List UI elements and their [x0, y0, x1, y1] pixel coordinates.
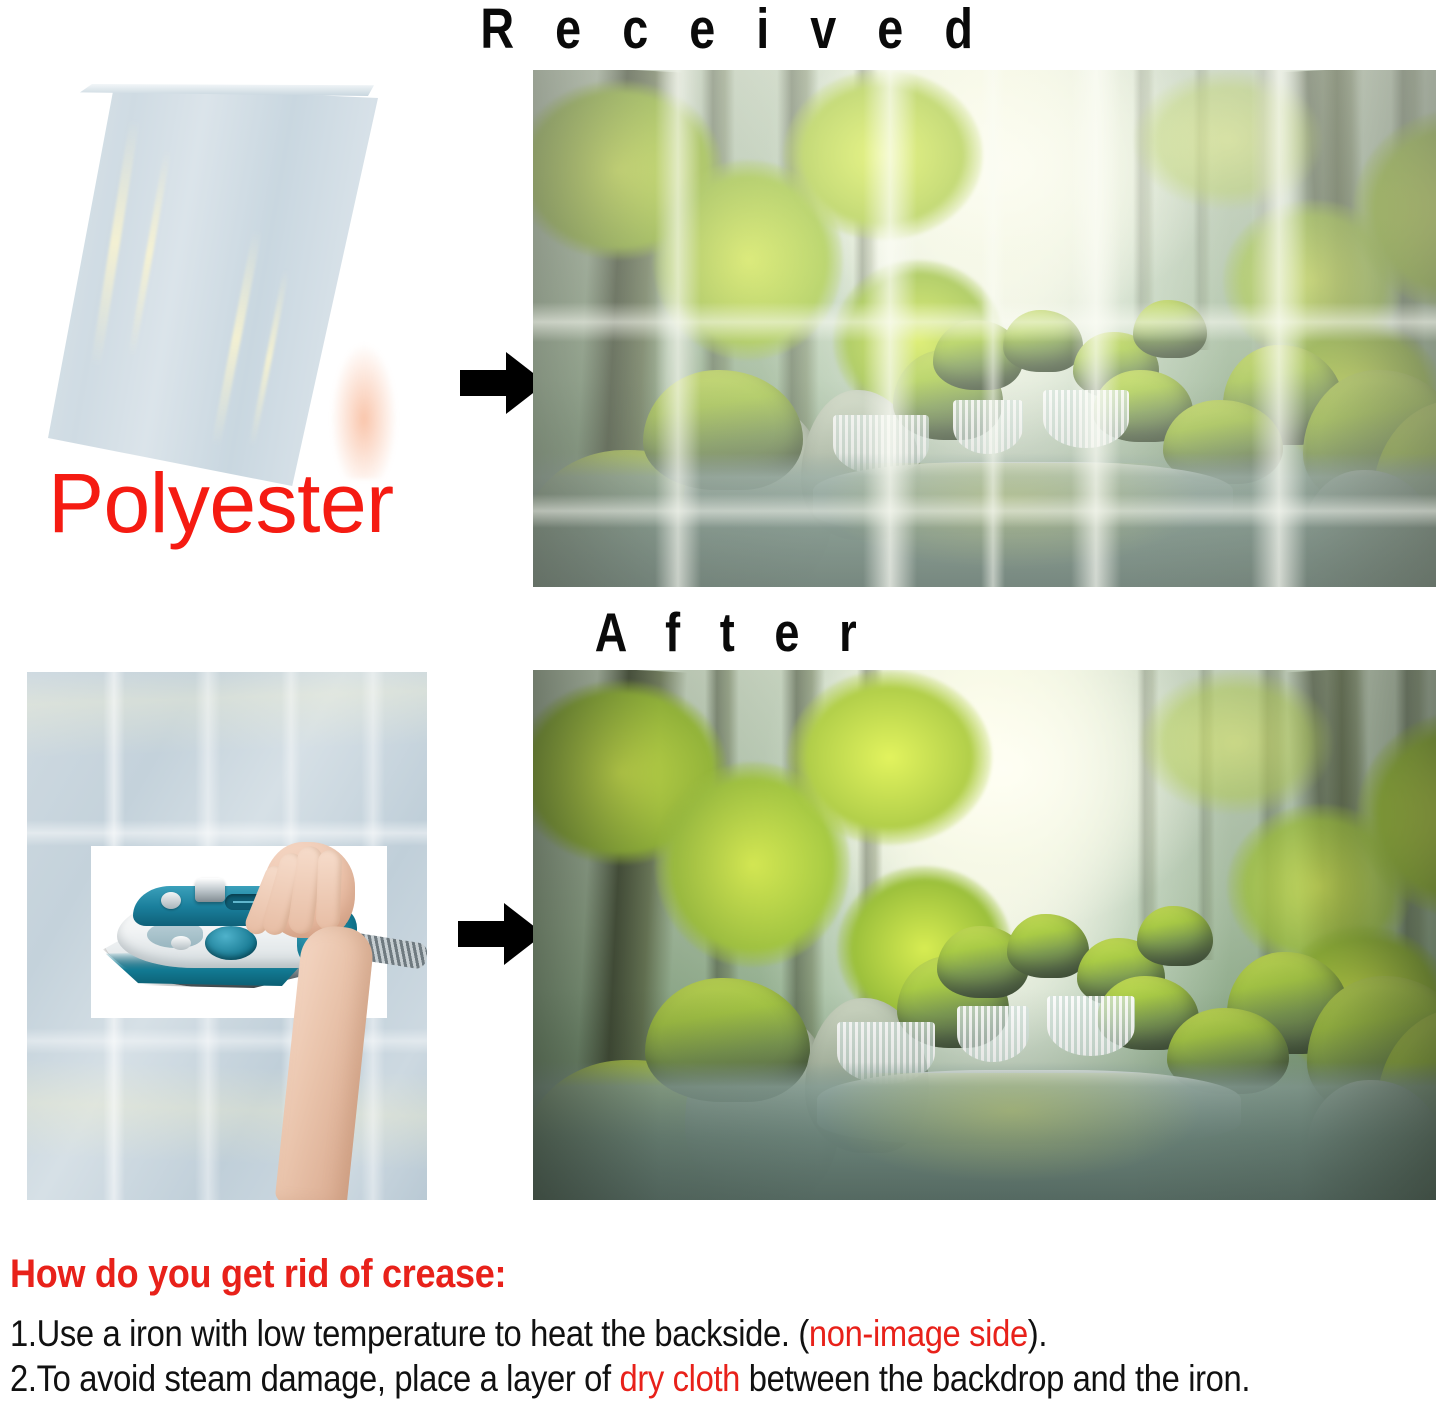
iron-spray-button: [161, 892, 181, 909]
instructions-block: How do you get rid of crease: 1.Use a ir…: [10, 1252, 1430, 1401]
arrow-shaft: [460, 370, 512, 396]
instruction-line-2-part-a: 2.To avoid steam damage, place a layer o…: [10, 1358, 619, 1399]
hand-finger: [316, 850, 343, 931]
arrow-shaft: [458, 921, 510, 947]
forearm: [275, 923, 376, 1200]
instruction-line-1-part-a: 1.Use a iron with low temperature to hea…: [10, 1313, 809, 1354]
received-heading: R e c e i v e d: [480, 0, 939, 62]
instruction-line-2-part-b: between the backdrop and the iron.: [740, 1358, 1250, 1399]
ironing-demo-image: [27, 672, 427, 1200]
instruction-line-2-highlight: dry cloth: [619, 1358, 740, 1399]
hand-icon: [253, 842, 373, 1200]
instruction-line-1: 1.Use a iron with low temperature to hea…: [10, 1311, 1267, 1356]
right-arrow-icon: [458, 903, 544, 965]
iron-cap: [171, 936, 191, 950]
received-backdrop-photo: [533, 70, 1436, 587]
polyester-caption: Polyester: [48, 455, 394, 552]
forest-scene-creased: [533, 70, 1436, 587]
instruction-line-2: 2.To avoid steam damage, place a layer o…: [10, 1356, 1267, 1401]
instruction-line-1-part-b: ).: [1028, 1313, 1047, 1354]
scene-vignette: [533, 670, 1436, 1200]
scene-vignette: [533, 70, 1436, 587]
instructions-heading: How do you get rid of crease:: [10, 1252, 1288, 1297]
after-backdrop-photo: [533, 670, 1436, 1200]
iron-steam-button: [195, 878, 225, 902]
instruction-line-1-highlight: non-image side: [809, 1313, 1028, 1354]
forest-scene-smooth: [533, 670, 1436, 1200]
after-heading: A f t e r: [595, 600, 866, 664]
folded-fabric-image: [18, 78, 438, 493]
